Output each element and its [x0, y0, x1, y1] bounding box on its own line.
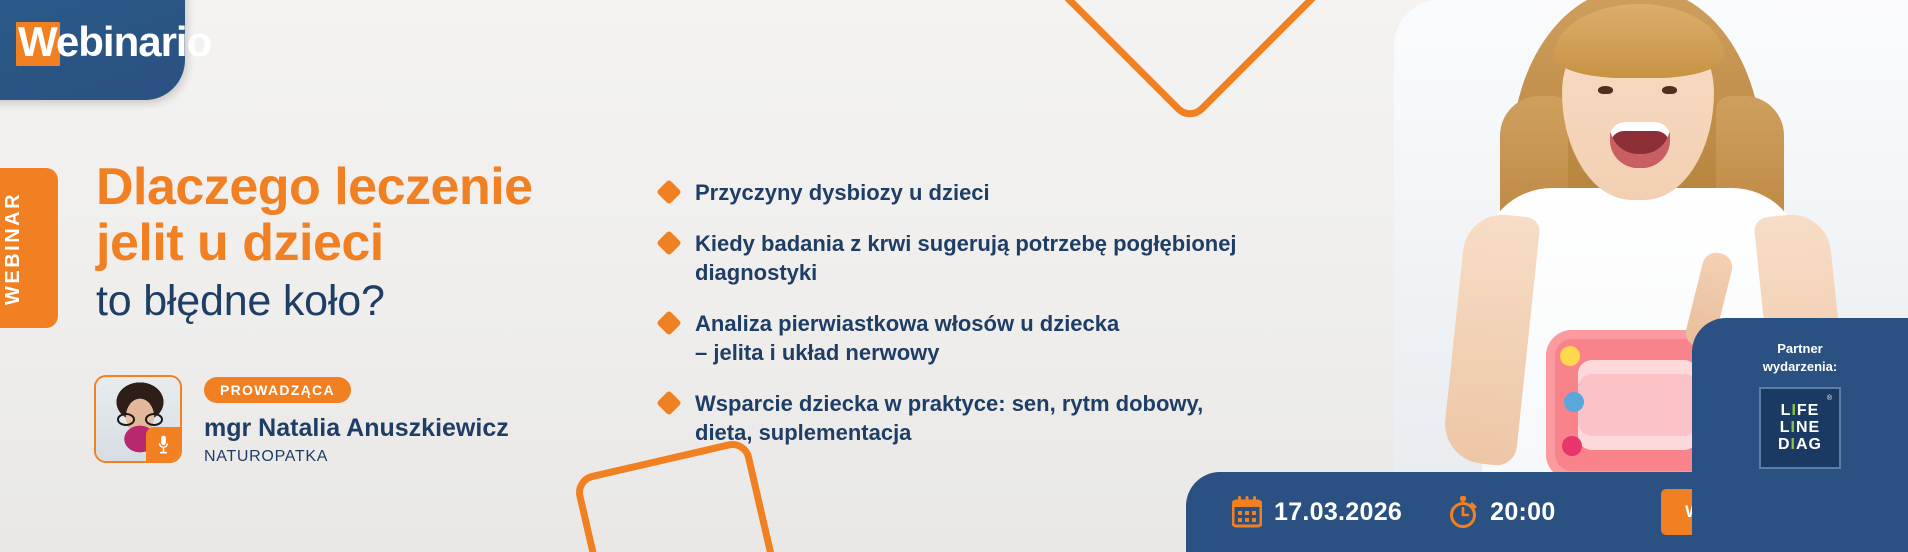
gut-dot [1562, 436, 1582, 456]
gut-dot [1564, 392, 1584, 412]
presenter-info: PROWADZĄCA mgr Natalia Anuszkiewicz NATU… [204, 375, 509, 466]
list-item: Analiza pierwiastkowa włosów u dziecka –… [660, 309, 1360, 367]
child-eye-left [1598, 86, 1613, 94]
avatar [94, 375, 182, 463]
partner-logo-line-1: LIFE [1781, 403, 1820, 419]
logo-text: Webinario [18, 18, 211, 66]
list-item: Przyczyny dysbiozy u dzieci [660, 178, 1360, 207]
presenter-name: mgr Natalia Anuszkiewicz [204, 414, 509, 443]
gut-dot [1560, 346, 1580, 366]
presenter-title: NATUROPATKA [204, 448, 509, 466]
list-item: Wsparcie dziecka w praktyce: sen, rytm d… [660, 389, 1360, 447]
partner-logo-line-2: LINE [1780, 420, 1820, 436]
page-title: Dlaczego leczenie jelit u dzieci to błęd… [96, 160, 533, 324]
child-eye-right [1662, 86, 1677, 94]
calendar-icon [1232, 496, 1262, 528]
diamond-bullet-icon [656, 179, 681, 204]
event-time-label: 20:00 [1490, 498, 1555, 527]
glasses-icon [116, 413, 164, 426]
diamond-bullet-icon [656, 390, 681, 415]
event-date-label: 17.03.2026 [1274, 498, 1402, 527]
microphone-icon [146, 427, 180, 461]
webinar-badge-label: WEBINAR [3, 191, 26, 304]
webinar-banner: Webinario WEBINAR Dlaczego leczenie jeli… [0, 0, 1908, 552]
diamond-bullet-icon [656, 310, 681, 335]
partner-logo-line-3: DIAG [1778, 437, 1822, 453]
stopwatch-icon [1448, 496, 1478, 528]
registered-mark: ® [1827, 395, 1832, 402]
list-item: Kiedy badania z krwi sugerują potrzebę p… [660, 229, 1360, 287]
headline-line-1: Dlaczego leczenie [96, 160, 533, 216]
list-item-label: Przyczyny dysbiozy u dzieci [695, 178, 990, 207]
partner-panel: Partner wydarzenia: ® LIFE LINE DIAG [1692, 318, 1908, 552]
list-item-label: Analiza pierwiastkowa włosów u dziecka –… [695, 309, 1119, 367]
headline-line-2: jelit u dzieci [96, 216, 533, 272]
diamond-bullet-icon [656, 230, 681, 255]
headline-line-3: to błędne koło? [96, 278, 533, 324]
event-date: 17.03.2026 [1232, 496, 1402, 528]
decorative-diamond-outline-icon [1042, 0, 1339, 125]
lifelinediag-logo: ® LIFE LINE DIAG [1759, 387, 1841, 469]
microphone-glyph [156, 435, 171, 454]
presenter-role-badge: PROWADZĄCA [204, 377, 351, 403]
webinar-vertical-badge: WEBINAR [0, 168, 58, 328]
webinario-logo[interactable]: Webinario [18, 18, 211, 66]
partner-label: Partner wydarzenia: [1763, 340, 1837, 375]
presenter-block: PROWADZĄCA mgr Natalia Anuszkiewicz NATU… [94, 375, 509, 466]
gut-inner [1578, 360, 1698, 450]
list-item-label: Wsparcie dziecka w praktyce: sen, rytm d… [695, 389, 1203, 447]
list-item-label: Kiedy badania z krwi sugerują potrzebę p… [695, 229, 1237, 287]
event-time: 20:00 [1448, 496, 1555, 528]
topics-list: Przyczyny dysbiozy u dzieci Kiedy badani… [660, 178, 1360, 469]
